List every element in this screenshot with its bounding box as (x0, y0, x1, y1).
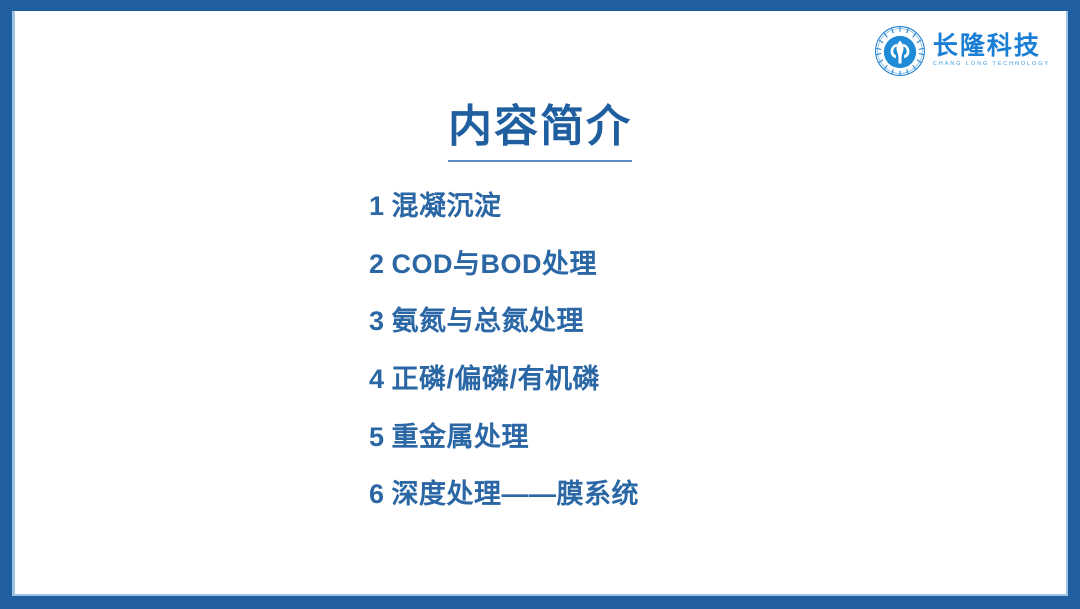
list-item-label: 氨氮与总氮处理 (392, 306, 585, 336)
list-item: 5重金属处理 (369, 423, 639, 453)
page-title: 内容简介 (448, 103, 632, 162)
list-item-label: COD与BOD处理 (392, 249, 598, 279)
company-name-cn: 长隆科技 (933, 34, 1050, 59)
company-logo-text: 长隆科技 CHANG LONG TECHNOLOGY (933, 34, 1050, 68)
list-item-number: 1 (369, 191, 385, 221)
list-item-number: 6 (369, 479, 385, 509)
list-item-label: 正磷/偏磷/有机磷 (392, 364, 601, 394)
slide-right-border (1068, 0, 1080, 609)
list-item-label: 混凝沉淀 (392, 191, 502, 221)
presentation-slide: 长隆科技 CHANG LONG TECHNOLOGY 内容简介 1混凝沉淀 2C… (0, 0, 1080, 609)
agenda-list: 1混凝沉淀 2COD与BOD处理 3氨氮与总氮处理 4正磷/偏磷/有机磷 5重金… (369, 192, 639, 510)
list-item-number: 2 (369, 249, 385, 279)
list-item: 2COD与BOD处理 (369, 250, 639, 280)
list-item-number: 4 (369, 364, 385, 394)
list-item: 1混凝沉淀 (369, 192, 639, 222)
changlong-gear-emblem-icon (874, 25, 926, 77)
list-item: 3氨氮与总氮处理 (369, 307, 639, 337)
list-item-number: 5 (369, 422, 385, 452)
slide-title-container: 内容简介 (0, 103, 1080, 162)
slide-bottom-inner-hairline (12, 594, 1068, 596)
list-item-label: 重金属处理 (392, 422, 530, 452)
slide-left-inner-hairline (12, 11, 15, 596)
slide-left-border (0, 0, 12, 609)
list-item-label: 深度处理——膜系统 (392, 479, 640, 509)
slide-right-inner-hairline (1066, 11, 1068, 596)
list-item: 6深度处理——膜系统 (369, 480, 639, 510)
slide-top-border (0, 0, 1080, 11)
list-item-number: 3 (369, 306, 385, 336)
company-logo: 长隆科技 CHANG LONG TECHNOLOGY (874, 25, 1050, 77)
slide-bottom-border (0, 596, 1080, 609)
company-name-en: CHANG LONG TECHNOLOGY (933, 62, 1050, 67)
list-item: 4正磷/偏磷/有机磷 (369, 365, 639, 395)
